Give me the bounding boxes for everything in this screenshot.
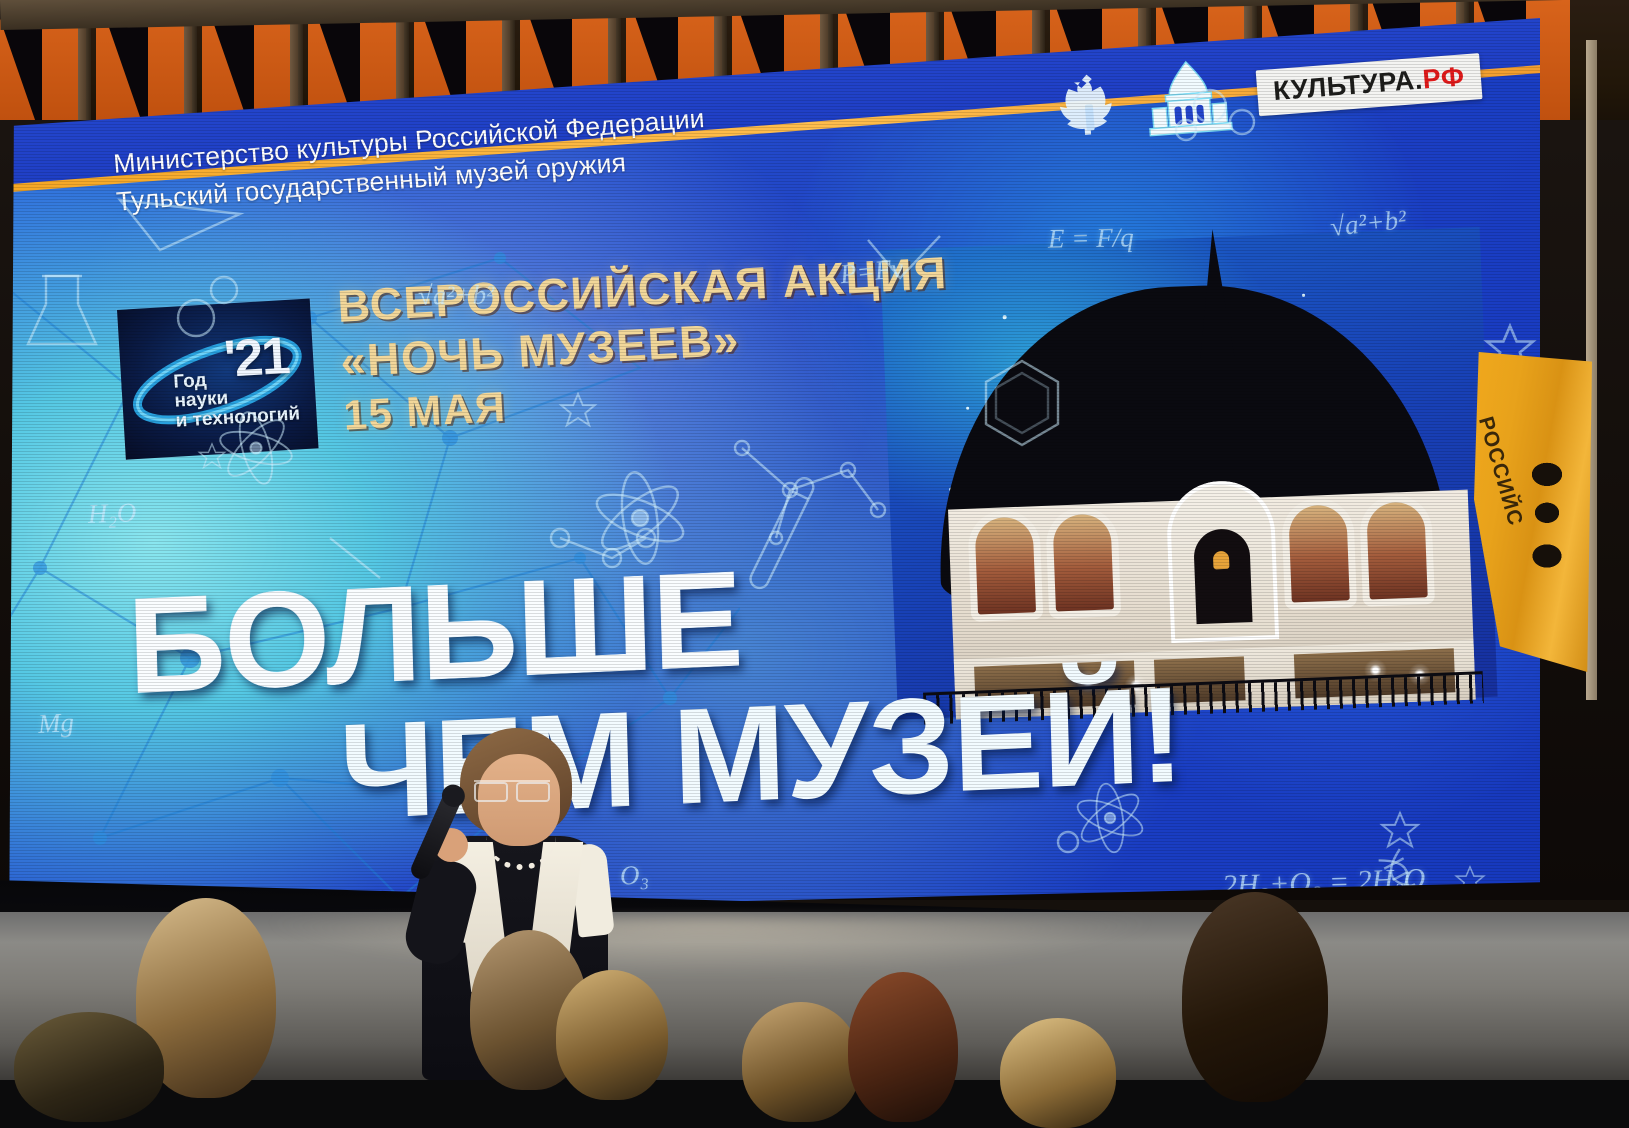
science-formula: H₂O (87, 497, 136, 530)
science-formula: E = F/q (1048, 222, 1134, 254)
formula-layer: P=FvE = F/q√a²+b²√a²+b²MgO₃2H₂+O₂ = 2H₂O… (0, 18, 1540, 923)
audience-head (1000, 1018, 1116, 1128)
audience-head (742, 1002, 860, 1122)
led-display-screen: P=FvE = F/q√a²+b²√a²+b²MgO₃2H₂+O₂ = 2H₂O… (0, 18, 1540, 923)
science-formula: P=Fv (839, 253, 905, 290)
stage-floor-light (260, 918, 1160, 978)
audience-head (14, 1012, 164, 1122)
auditorium-scene: P=FvE = F/q√a²+b²√a²+b²MgO₃2H₂+O₂ = 2H₂O… (0, 0, 1629, 1080)
flag-eagle-icon (1522, 460, 1572, 580)
audience-head (1182, 892, 1328, 1102)
flag-label: РОССИЙС (1473, 414, 1527, 529)
audience-head (848, 972, 958, 1122)
audience-head (556, 970, 668, 1100)
science-formula: √a²+b² (418, 279, 495, 311)
science-formula: √a²+b² (1329, 204, 1408, 243)
eyeglasses-icon (474, 780, 550, 797)
science-formula: Mg (37, 707, 75, 740)
